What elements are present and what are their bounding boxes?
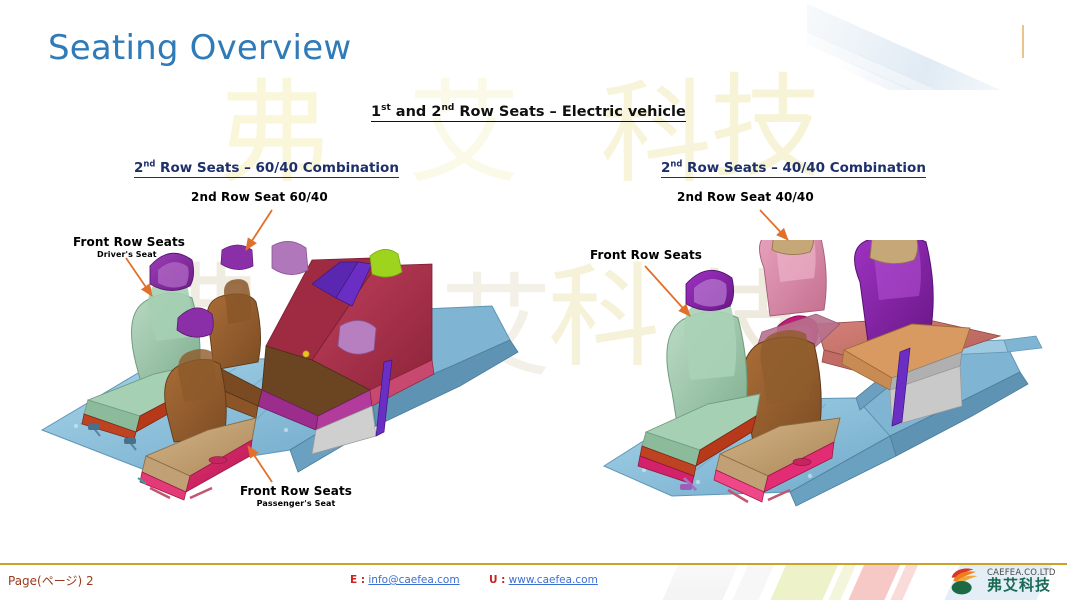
page-title: Seating Overview <box>48 28 351 68</box>
heading-prefix: 2 <box>661 160 670 176</box>
heading-suffix: Row Seats – 60/40 Combination <box>155 160 399 176</box>
callout-2nd-row-seat-60-40: 2nd Row Seat 60/40 <box>191 190 328 204</box>
main-heading-middle: and 2 <box>391 104 442 120</box>
callout-2nd-row-seat-40-40: 2nd Row Seat 40/40 <box>677 190 814 204</box>
seat-assembly-40-40-svg <box>600 240 1050 520</box>
callout-title: Front Row Seats <box>590 248 702 262</box>
callout-title: 2nd Row Seat 60/40 <box>191 190 328 204</box>
callout-subtitle: Passenger's Seat <box>240 499 352 508</box>
callout-title: Front Row Seats <box>73 235 185 249</box>
logo-chinese: 弗艾科技 <box>987 578 1056 593</box>
top-right-decoration <box>807 0 1067 90</box>
watermark-char: 艾 <box>408 78 520 190</box>
caefea-logo-icon <box>948 566 982 596</box>
callout-front-row-passenger: Front Row Seats Passenger's Seat <box>240 484 352 508</box>
company-logo: CAEFEA.CO.LTD 弗艾科技 <box>948 564 1063 598</box>
page-number: Page(ページ) 2 <box>8 572 94 589</box>
website-link[interactable]: www.caefea.com <box>509 574 598 586</box>
slide-canvas: 弗 艾 科 技 弗 艾 科 技 Seating Overview 1st and… <box>0 0 1067 600</box>
render-60-40 <box>40 240 520 520</box>
seat-assembly-60-40-svg <box>40 240 520 520</box>
render-40-40 <box>600 240 1050 520</box>
heading-suffix: Row Seats – 40/40 Combination <box>682 160 926 176</box>
heading-sup: nd <box>143 159 155 169</box>
panel-heading-40-40: 2nd Row Seats – 40/40 Combination <box>661 160 926 178</box>
main-heading-prefix: 1 <box>371 104 381 120</box>
orange-tick-mark <box>1022 25 1024 58</box>
heading-prefix: 2 <box>134 160 143 176</box>
url-key: U : <box>489 574 505 586</box>
footer-divider <box>0 563 1067 565</box>
main-heading: 1st and 2nd Row Seats – Electric vehicle <box>371 104 686 122</box>
callout-title: 2nd Row Seat 40/40 <box>677 190 814 204</box>
callout-title: Front Row Seats <box>240 484 352 498</box>
arrow-2nd-row-right <box>760 210 788 240</box>
main-heading-sup-st: st <box>381 103 391 113</box>
callout-subtitle: Driver's Seat <box>73 250 185 259</box>
main-heading-sup-nd: nd <box>441 103 454 113</box>
email-link[interactable]: info@caefea.com <box>368 574 459 586</box>
email-key: E : <box>350 574 365 586</box>
footer-contact: E : info@caefea.com U : www.caefea.com <box>350 574 624 586</box>
panel-heading-60-40: 2nd Row Seats – 60/40 Combination <box>134 160 399 178</box>
main-heading-suffix: Row Seats – Electric vehicle <box>454 104 686 120</box>
callout-front-row-driver: Front Row Seats Driver's Seat <box>73 235 185 259</box>
heading-sup: nd <box>670 159 682 169</box>
logo-text: CAEFEA.CO.LTD 弗艾科技 <box>987 569 1056 594</box>
callout-front-row-right: Front Row Seats <box>590 248 702 262</box>
